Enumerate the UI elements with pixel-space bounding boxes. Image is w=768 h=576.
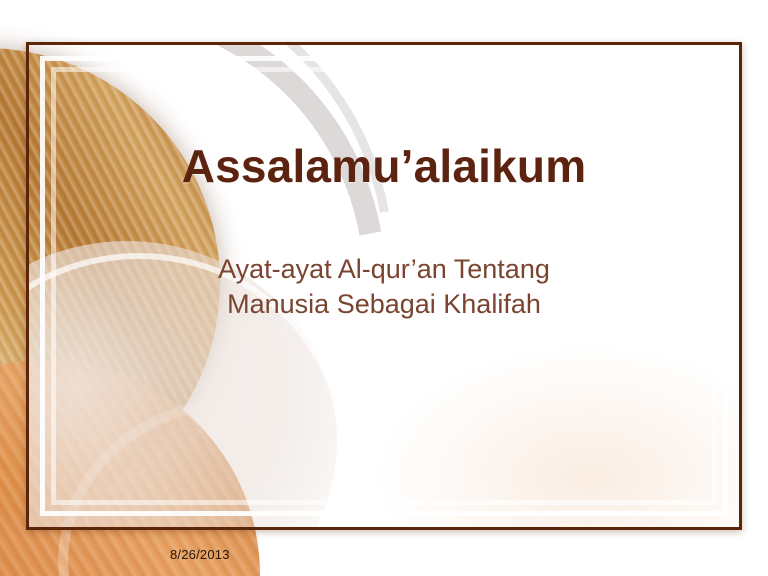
slide-title: Assalamu’alaikum (29, 141, 739, 192)
slide-subtitle-line-2: Manusia Sebagai Khalifah (29, 287, 739, 323)
slide-subtitle: Ayat-ayat Al-qur’an Tentang Manusia Seba… (29, 252, 739, 323)
title-text-block: Assalamu’alaikum Ayat-ayat Al-qur’an Ten… (29, 141, 739, 323)
slide-content-frame: Assalamu’alaikum Ayat-ayat Al-qur’an Ten… (26, 42, 742, 530)
slide-date: 8/26/2013 (170, 547, 230, 562)
slide-subtitle-line-1: Ayat-ayat Al-qur’an Tentang (29, 252, 739, 288)
presentation-slide: Assalamu’alaikum Ayat-ayat Al-qur’an Ten… (0, 0, 768, 576)
warm-glow-shape (379, 347, 739, 527)
